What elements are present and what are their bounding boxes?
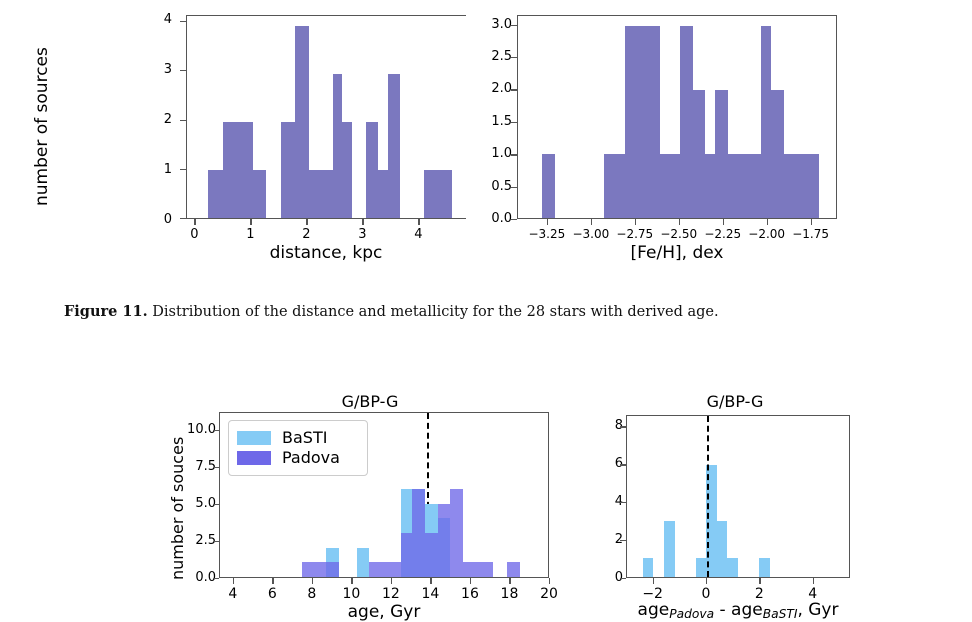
age-panel-title: G/BP-G — [205, 392, 535, 411]
x-tick — [547, 219, 548, 225]
distance-histogram-panel: number of sources 0 1 2 3 4 01234 distan… — [0, 0, 486, 260]
metallicity-histogram-panel: 0.00.51.01.52.02.53.0 −3.25−3.00−2.75−2.… — [486, 0, 972, 260]
y-tick — [511, 219, 517, 220]
x-tick — [509, 578, 510, 584]
y-tick-label: 2 — [553, 532, 623, 547]
x-tick — [549, 578, 550, 584]
x-tick — [723, 219, 724, 225]
y-tick — [511, 154, 517, 155]
legend-entry-padova: Padova — [237, 448, 357, 468]
distance-bars — [187, 16, 466, 218]
histogram-bar — [806, 154, 818, 218]
y-tick-label: 4 — [553, 494, 623, 509]
y-tick — [511, 187, 517, 188]
x-tick — [811, 219, 812, 225]
y-tick — [620, 578, 626, 579]
y-tick — [213, 541, 219, 542]
histogram-bar — [309, 170, 322, 218]
x-tick — [813, 578, 814, 584]
histogram-bar — [749, 154, 761, 218]
histogram-bar — [643, 558, 654, 577]
axis-label-minus-age: - age — [714, 600, 763, 620]
x-tick — [306, 219, 307, 225]
metallicity-plot-area — [517, 15, 837, 219]
axis-label-basti-sub: BaSTI — [763, 607, 798, 621]
histogram-bar — [357, 548, 370, 577]
x-tick — [470, 578, 471, 584]
histogram-bar — [717, 521, 728, 577]
axis-label-age-1: age — [638, 600, 670, 620]
distance-x-axis-label: distance, kpc — [186, 243, 466, 263]
histogram-bar — [604, 154, 625, 218]
x-tick-label: 20 — [514, 586, 584, 602]
histogram-bar — [715, 90, 727, 218]
y-tick — [620, 464, 626, 465]
distance-ytick-label: 3 — [148, 62, 172, 77]
age-histogram-panel: G/BP-G number of souces 0.02.55.07.510.0… — [150, 390, 570, 620]
x-tick — [653, 578, 654, 584]
age-difference-histogram-panel: G/BP-G 02468 −2024 agePadova - ageBaSTI,… — [600, 390, 960, 620]
histogram-bar — [295, 26, 310, 218]
y-tick-label: 2.0 — [442, 81, 512, 96]
histogram-bar — [670, 154, 680, 218]
metallicity-x-axis-label: [Fe/H], dex — [517, 243, 837, 263]
y-tick — [620, 540, 626, 541]
histogram-bar — [794, 154, 806, 218]
histogram-bar — [223, 122, 239, 218]
age-diff-panel-title: G/BP-G — [620, 392, 850, 411]
y-tick-label: 7.5 — [146, 459, 216, 474]
y-tick-label: 1.5 — [442, 114, 512, 129]
distance-y-axis-label: number of sources — [32, 47, 52, 206]
histogram-bar — [388, 74, 399, 218]
x-tick — [767, 219, 768, 225]
x-tick — [635, 219, 636, 225]
distance-ytick-label: 1 — [148, 162, 172, 177]
age-diff-x-axis-label: agePadova - ageBaSTI, Gyr — [606, 600, 870, 621]
y-tick — [213, 430, 219, 431]
x-tick — [194, 219, 195, 225]
x-tick — [759, 578, 760, 584]
histogram-bar — [759, 558, 770, 577]
histogram-bar — [381, 562, 394, 577]
histogram-bar — [647, 26, 659, 218]
axis-label-padova-sub: Padova — [669, 607, 714, 621]
histogram-bar — [474, 562, 493, 577]
y-tick-label: 5.0 — [146, 496, 216, 511]
x-tick — [430, 578, 431, 584]
y-tick-label: 3.0 — [442, 17, 512, 32]
x-tick-label: −1.75 — [776, 227, 846, 241]
y-tick — [511, 122, 517, 123]
metallicity-bars — [518, 16, 836, 218]
y-tick — [213, 467, 219, 468]
histogram-bar — [507, 562, 520, 577]
basti-color-swatch — [237, 431, 271, 445]
histogram-bar — [463, 562, 475, 577]
x-tick — [312, 578, 313, 584]
histogram-bar — [705, 154, 715, 218]
distance-ytick-label: 4 — [148, 12, 172, 27]
age-legend: BaSTI Padova — [228, 420, 368, 476]
histogram-bar — [784, 154, 794, 218]
y-tick-label: 1.0 — [442, 146, 512, 161]
age-diff-zero-line — [707, 416, 709, 577]
legend-entry-basti: BaSTI — [237, 428, 357, 448]
histogram-bar — [394, 562, 401, 577]
histogram-bar — [761, 26, 771, 218]
figure-caption-label: Figure 11. — [64, 303, 148, 320]
y-tick — [511, 25, 517, 26]
y-tick-label: 8 — [553, 418, 623, 433]
age-diff-bars — [627, 416, 849, 577]
histogram-bar — [438, 504, 450, 577]
y-tick — [620, 426, 626, 427]
histogram-bar — [450, 489, 463, 577]
x-tick — [418, 219, 419, 225]
histogram-bar — [542, 154, 554, 218]
histogram-bar — [302, 562, 315, 577]
histogram-bar — [366, 122, 379, 218]
histogram-bar — [664, 521, 675, 577]
histogram-bar — [625, 26, 648, 218]
y-tick — [213, 578, 219, 579]
x-tick — [233, 578, 234, 584]
histogram-bar — [693, 90, 705, 218]
histogram-bar — [660, 154, 670, 218]
age-diff-plot-area — [626, 415, 850, 578]
padova-color-swatch — [237, 451, 271, 465]
histogram-bar — [208, 170, 224, 218]
x-tick — [351, 578, 352, 584]
histogram-bar — [680, 26, 692, 218]
histogram-bar — [412, 489, 425, 577]
histogram-bar — [696, 558, 707, 577]
y-tick-label: 10.0 — [146, 422, 216, 437]
y-tick-label: 0 — [553, 570, 623, 585]
y-tick-label: 0.0 — [146, 570, 216, 585]
histogram-bar — [281, 122, 294, 218]
y-tick — [511, 89, 517, 90]
histogram-bar — [323, 170, 333, 218]
histogram-bar — [253, 170, 265, 218]
histogram-bar — [425, 533, 438, 577]
y-tick-label: 2.5 — [442, 49, 512, 64]
y-tick-label: 2.5 — [146, 533, 216, 548]
histogram-bar — [369, 562, 381, 577]
distance-ytick-label: 0 — [148, 212, 172, 227]
y-tick-label: 0.0 — [442, 211, 512, 226]
x-tick — [679, 219, 680, 225]
y-tick — [511, 57, 517, 58]
y-tick-label: 0.5 — [442, 179, 512, 194]
histogram-bar — [727, 558, 738, 577]
histogram-bar — [333, 74, 342, 218]
figure-caption-text: Distribution of the distance and metalli… — [148, 304, 719, 320]
histogram-bar — [314, 562, 326, 577]
x-tick — [250, 219, 251, 225]
histogram-bar — [378, 170, 388, 218]
histogram-bar — [728, 154, 749, 218]
x-tick — [391, 578, 392, 584]
histogram-bar — [342, 122, 352, 218]
x-tick — [272, 578, 273, 584]
histogram-bar — [771, 90, 783, 218]
figure-caption: Figure 11. Distribution of the distance … — [64, 303, 719, 320]
histogram-bar — [326, 562, 339, 577]
age-plot-area: BaSTI Padova — [219, 412, 549, 578]
histogram-bar — [401, 533, 413, 577]
x-tick — [591, 219, 592, 225]
x-tick — [362, 219, 363, 225]
y-tick — [620, 502, 626, 503]
x-tick-label: 4 — [383, 227, 453, 242]
age-x-axis-label: age, Gyr — [219, 602, 549, 622]
y-tick — [213, 504, 219, 505]
padova-legend-label: Padova — [282, 450, 340, 466]
distance-ytick-label: 2 — [148, 112, 172, 127]
y-tick-label: 6 — [553, 456, 623, 471]
basti-legend-label: BaSTI — [282, 430, 327, 446]
x-tick — [706, 578, 707, 584]
histogram-bar — [239, 122, 254, 218]
axis-label-gyr: , Gyr — [797, 600, 838, 620]
distance-plot-area — [186, 15, 466, 219]
